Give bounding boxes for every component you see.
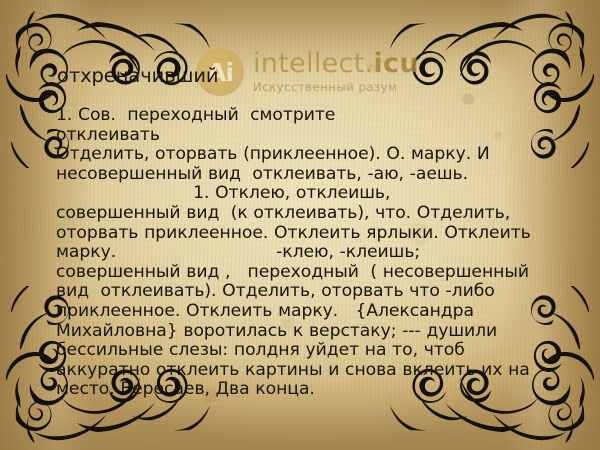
dictionary-article-text: 1. Сов. переходный смотритеотклеиватьОтд…	[56, 106, 548, 400]
article-line: несовершенный вид отклеивать, -аю, -аешь…	[56, 165, 548, 185]
article-line: Михайловна} воротилась к верстаку; --- д…	[56, 322, 548, 342]
article-line: 1. Сов. переходный смотрите	[56, 106, 548, 126]
article-line: Отделить, оторвать (приклеенное). О. мар…	[56, 145, 548, 165]
article-line: место. Вересаев, Два конца.	[56, 380, 548, 400]
article-line: вид отклеивать). Отделить, оторвать что …	[56, 282, 548, 302]
headword: отхреначивший	[57, 64, 218, 87]
article-line: приклеенное. Отклеить марку. {Александра	[56, 302, 548, 322]
article-line: совершенный вид (к отклеивать), что. Отд…	[56, 204, 548, 224]
article-line: марку. -клею, -клеишь;	[56, 243, 548, 263]
article-line: оторвать приклеенное. Отклеить ярлыки. О…	[56, 224, 548, 244]
article-line: отклеивать	[56, 126, 548, 146]
article-line: совершенный вид , переходный ( несоверше…	[56, 263, 548, 283]
dictionary-slide: Ai intellect.icu Искусственный разум отх…	[0, 0, 600, 450]
article-line: 1. Отклею, отклеишь,	[56, 184, 548, 204]
article-line: бессильные слезы: полдня уйдет на то, чт…	[56, 341, 548, 361]
article-line: аккуратно отклеить картины и снова вклеи…	[56, 361, 548, 381]
